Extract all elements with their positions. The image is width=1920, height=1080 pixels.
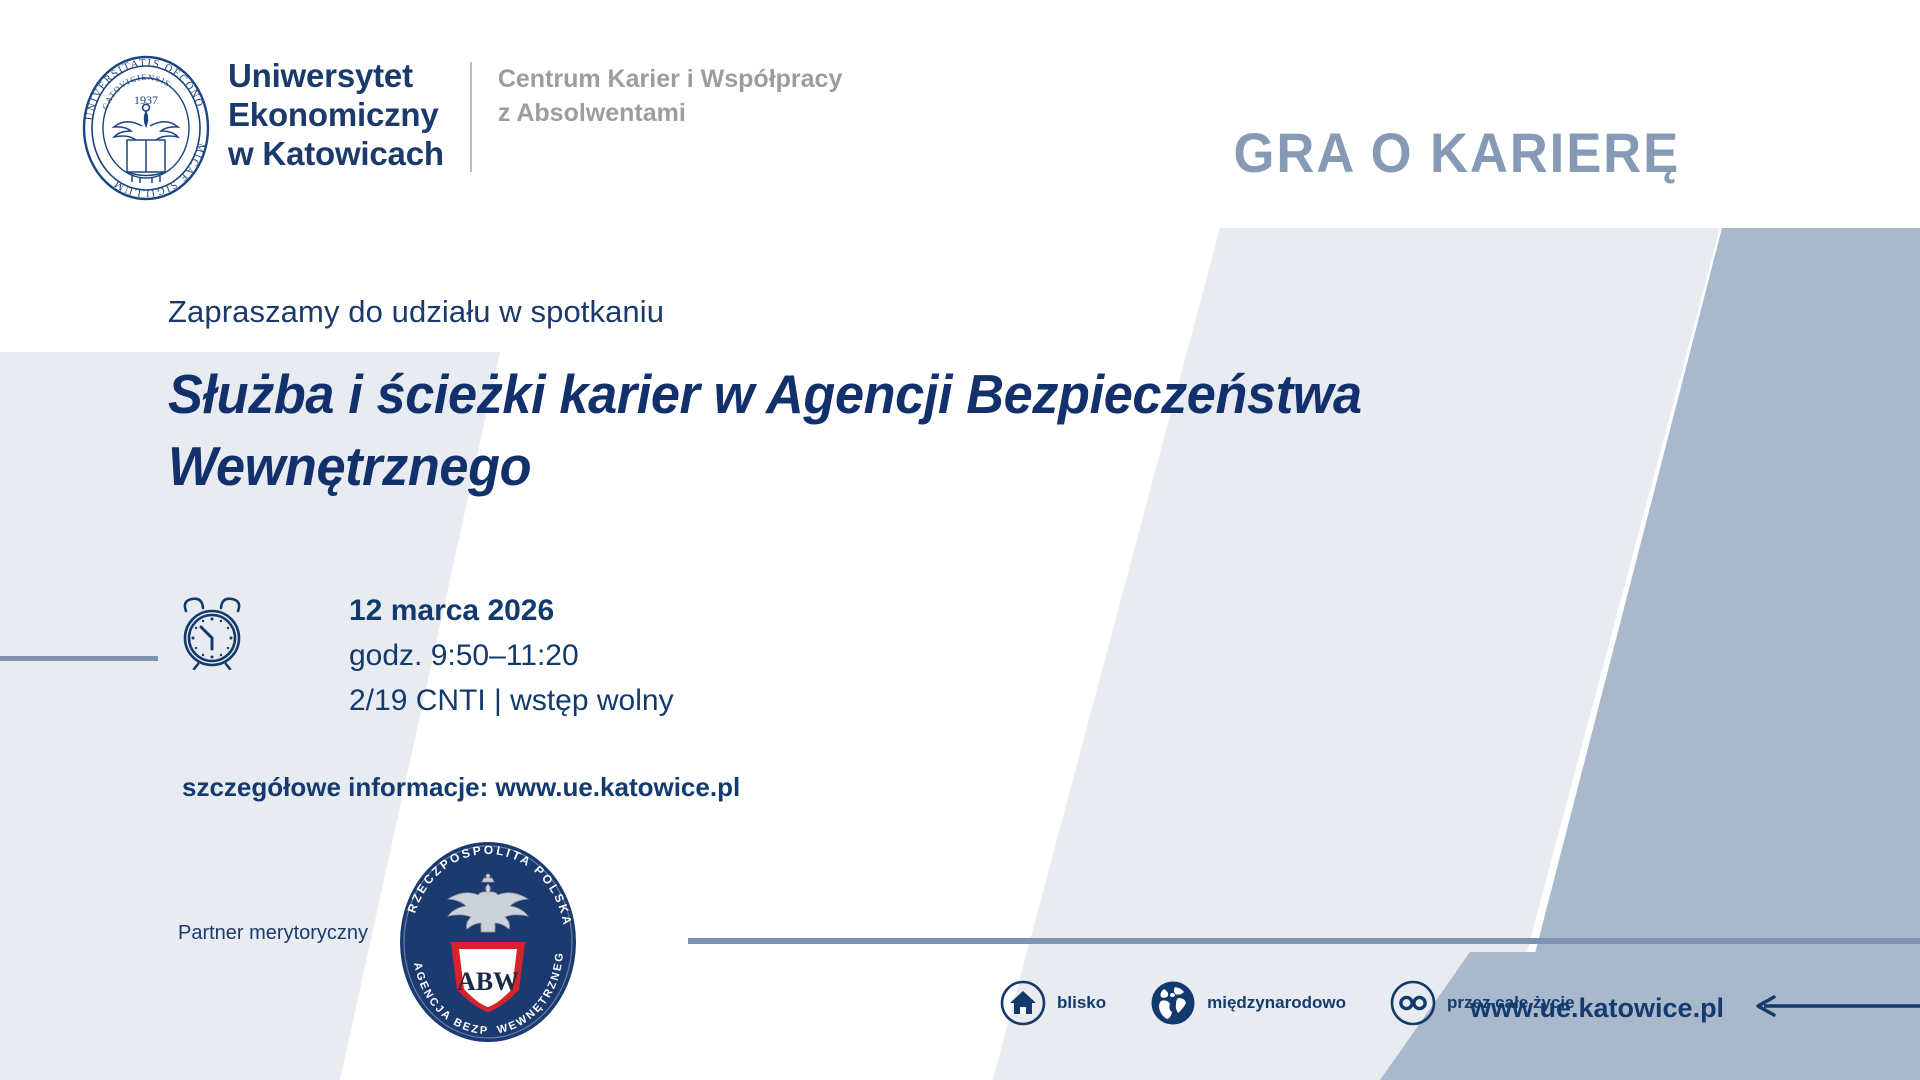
header-divider bbox=[470, 62, 472, 172]
university-name-line3: w Katowicach bbox=[228, 134, 444, 173]
divider-rule-bottom bbox=[688, 938, 1920, 944]
invitation-text: Zapraszamy do udziału w spotkaniu bbox=[168, 294, 664, 330]
university-name-line2: Ekonomiczny bbox=[228, 95, 444, 134]
career-center-line1: Centrum Karier i Współpracy bbox=[498, 62, 843, 96]
more-info-text: szczegółowe informacje: www.ue.katowice.… bbox=[182, 772, 740, 803]
arrow-left-icon bbox=[1752, 994, 1920, 1018]
svg-text:ABW: ABW bbox=[457, 967, 519, 996]
event-date: 12 marca 2026 bbox=[349, 588, 674, 633]
campaign-title: GRA O KARIERĘ bbox=[1233, 120, 1680, 185]
university-name-line1: Uniwersytet bbox=[228, 56, 444, 95]
career-center-line2: z Absolwentami bbox=[498, 96, 843, 130]
badge-miedzynarodowo-label: międzynarodowo bbox=[1207, 993, 1346, 1013]
abw-logo: RZECZPOSPOLITA POLSKA AGENCJA BEZPIECZEŃ… bbox=[393, 838, 583, 1046]
globe-icon bbox=[1150, 980, 1196, 1026]
badge-blisko: blisko bbox=[1000, 980, 1106, 1026]
event-place: 2/19 CNTI | wstęp wolny bbox=[349, 678, 674, 723]
career-center-name: Centrum Karier i Współpracy z Absolwenta… bbox=[498, 52, 843, 130]
house-icon bbox=[1000, 980, 1046, 1026]
university-seal-icon: UNIVERSITATIS OECONO MICAE SIGILLUM CATO… bbox=[80, 54, 212, 202]
event-time: godz. 9:50–11:20 bbox=[349, 633, 674, 678]
header: UNIVERSITATIS OECONO MICAE SIGILLUM CATO… bbox=[80, 52, 842, 202]
event-details: 12 marca 2026 godz. 9:50–11:20 2/19 CNTI… bbox=[175, 588, 674, 723]
event-details-text: 12 marca 2026 godz. 9:50–11:20 2/19 CNTI… bbox=[349, 588, 674, 723]
university-name: Uniwersytet Ekonomiczny w Katowicach bbox=[228, 52, 444, 173]
badge-blisko-label: blisko bbox=[1057, 993, 1106, 1013]
poster-canvas: UNIVERSITATIS OECONO MICAE SIGILLUM CATO… bbox=[0, 0, 1920, 1080]
website-url[interactable]: www.ue.katowice.pl bbox=[1470, 993, 1724, 1024]
alarm-clock-icon bbox=[175, 594, 249, 670]
event-headline: Służba i ścieżki karier w Agencji Bezpie… bbox=[168, 358, 1555, 502]
divider-rule-left bbox=[0, 656, 158, 661]
partner-label: Partner merytoryczny bbox=[178, 922, 368, 945]
badge-miedzynarodowo: międzynarodowo bbox=[1150, 980, 1346, 1026]
svg-text:MICAE SIGILLUM: MICAE SIGILLUM bbox=[111, 142, 206, 198]
infinity-icon bbox=[1390, 980, 1436, 1026]
